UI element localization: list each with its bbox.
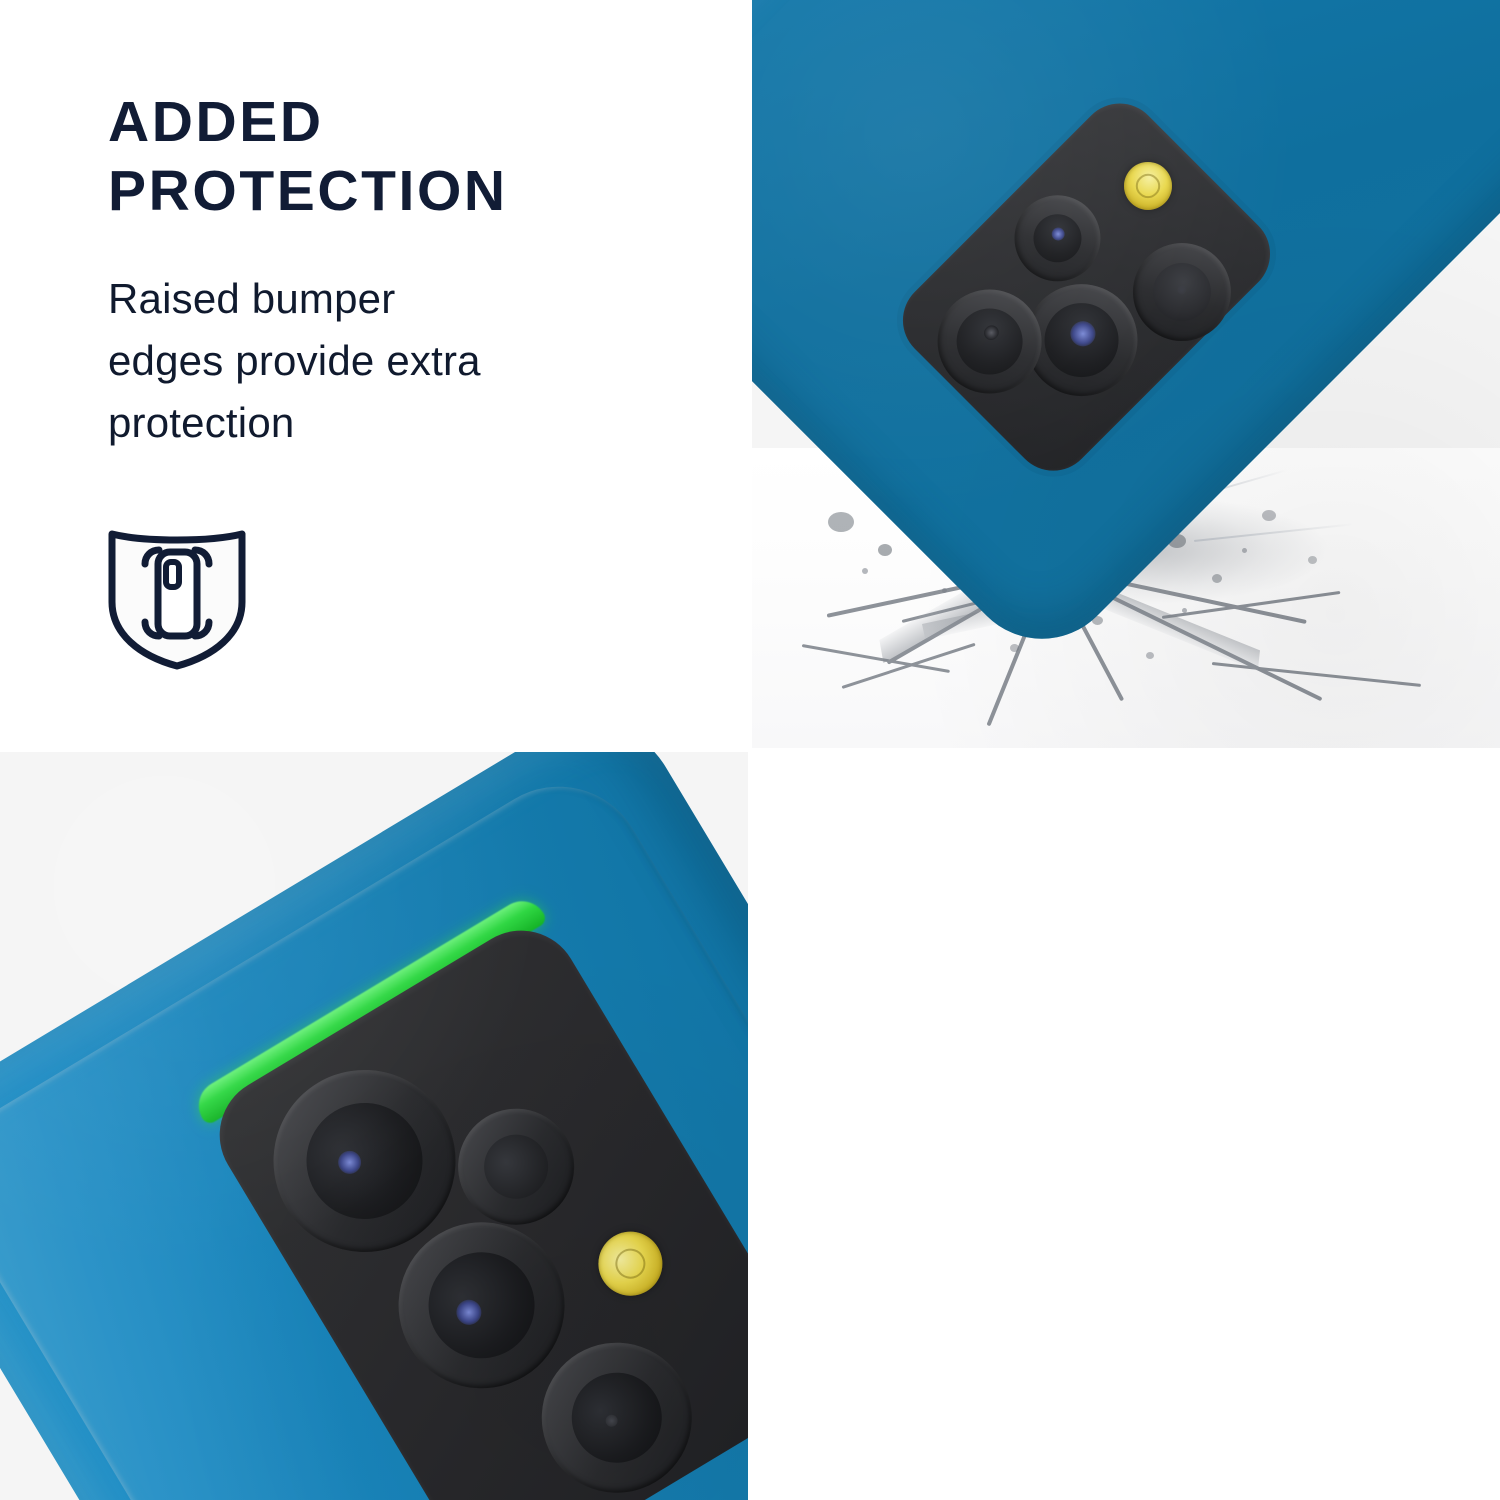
added-protection-subcopy: Raised bumper edges provide extra protec… xyxy=(108,268,688,454)
camera-lens-small xyxy=(997,177,1119,299)
angle-photo xyxy=(0,752,748,1500)
added-protection-headline: ADDED PROTECTION xyxy=(108,88,688,226)
added-protection-text-block: ADDED PROTECTION Raised bumper edges pro… xyxy=(108,88,688,454)
phone-with-case-angled xyxy=(0,752,748,1500)
panel-angle-photo xyxy=(0,752,748,1500)
feature-grid: ADDED PROTECTION Raised bumper edges pro… xyxy=(0,0,1500,1500)
camera-lens-wide xyxy=(916,268,1063,415)
camera-flash-angled xyxy=(586,1220,674,1308)
camera-flash xyxy=(1114,152,1182,220)
impact-photo xyxy=(752,0,1500,748)
panel-protects-camera: PROTECTS CAMERA Raised edges protect cam… xyxy=(752,752,1500,1500)
camera-lens-depth-angled xyxy=(437,1087,596,1246)
shield-phone-icon xyxy=(104,516,250,672)
camera-module xyxy=(886,87,1286,487)
panel-impact-photo xyxy=(752,0,1500,748)
panel-added-protection: ADDED PROTECTION Raised bumper edges pro… xyxy=(0,0,748,748)
